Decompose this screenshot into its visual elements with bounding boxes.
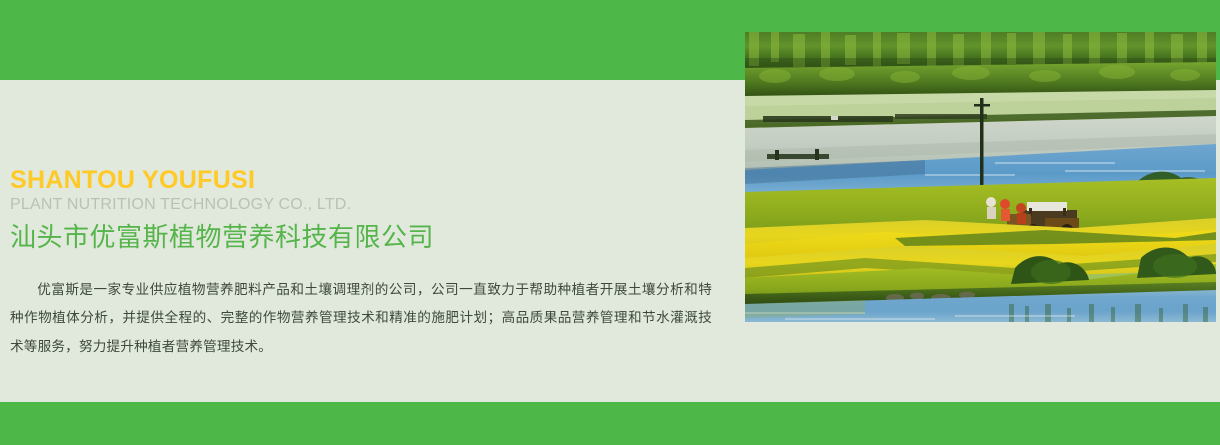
company-name-english: SHANTOU YOUFUSI xyxy=(10,166,730,194)
bottom-green-band xyxy=(0,402,1220,445)
brand-block: SHANTOU YOUFUSI PLANT NUTRITION TECHNOLO… xyxy=(10,166,730,254)
hero-photo xyxy=(745,32,1216,322)
company-tagline-english: PLANT NUTRITION TECHNOLOGY CO., LTD. xyxy=(10,196,730,214)
company-name-chinese: 汕头市优富斯植物营养科技有限公司 xyxy=(10,222,730,253)
about-paragraph: 优富斯是一家专业供应植物营养肥料产品和土壤调理剂的公司，公司一直致力于帮助种植者… xyxy=(10,276,712,361)
rice-field-landscape-image xyxy=(745,32,1216,322)
page-root: SHANTOU YOUFUSI PLANT NUTRITION TECHNOLO… xyxy=(0,0,1220,445)
